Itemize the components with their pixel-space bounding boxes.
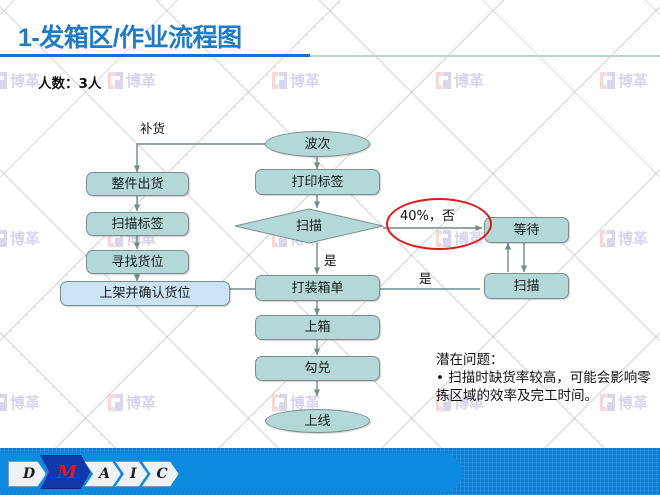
watermark: 博革 [0,392,40,413]
flow-node-online[interactable]: 上线 [265,409,370,433]
flow-node-wait[interactable]: 等待 [484,217,569,243]
watermark-text: 博革 [10,70,40,91]
boge-logo-icon [0,230,7,247]
boge-logo-icon [600,230,615,247]
watermark-text: 博革 [618,70,648,91]
edge-label-yes-down: 是 [324,250,337,269]
watermark: 博革 [436,70,484,91]
boge-logo-icon [272,72,287,89]
boge-logo-icon [108,394,123,411]
slide-canvas: 博革 博革 博革 博革 博革 博革 博革 博革 [0,0,660,495]
flow-node-label: 上线 [304,415,330,428]
boge-logo-icon [108,72,123,89]
dmaic-phase-letter: A [99,466,110,482]
watermark-text: 博革 [10,392,40,413]
dmaic-phase-letter: D [23,466,35,482]
notes-body: • 扫描时缺货率较高，可能会影响零拣区域的效率及完工时间。 [436,370,651,406]
flow-node-label: 勾兑 [304,362,330,375]
flow-node-label: 扫描 [296,220,322,233]
flow-node-full-case-shipment[interactable]: 整件出货 [86,172,189,196]
watermark: 博革 [600,70,648,91]
boge-logo-icon [0,394,7,411]
flow-node-label: 打印标签 [291,176,343,189]
watermark-text: 博革 [10,228,40,249]
flow-node-label: 扫描标签 [111,218,163,231]
flow-node-scan-decision[interactable]: 扫描 [234,208,384,244]
flow-node-label: 上架并确认货位 [99,287,190,300]
flow-node-print-label[interactable]: 打印标签 [255,169,380,195]
callout-text: 40%，否 [400,205,455,224]
watermark: 博革 [108,70,156,91]
watermark: 博革 [600,228,648,249]
page-title: 1-发箱区/作业流程图 [18,18,242,54]
flow-node-label: 寻找货位 [111,256,163,269]
flow-node-shelve-confirm-slot[interactable]: 上架并确认货位 [60,281,230,306]
boge-logo-icon [600,72,615,89]
notes-block: 潜在问题： • 扫描时缺货率较高，可能会影响零拣区域的效率及完工时间。 [436,352,651,405]
edge-label-replenish: 补货 [140,118,165,137]
flow-node-label: 打装箱单 [291,282,343,295]
dmaic-phase-d[interactable]: D [8,461,46,487]
dmaic-phase-letter: I [130,466,137,482]
flow-node-pack-list[interactable]: 打装箱单 [255,275,380,301]
dmaic-footer: D M A I C [0,448,660,495]
dmaic-phase-a[interactable]: A [84,461,121,487]
title-divider [0,54,660,57]
flow-node-label: 上箱 [304,321,330,334]
dmaic-phase-list: D M A I C [8,459,179,489]
dmaic-phase-m[interactable]: M [40,455,90,489]
flow-node-label: 整件出货 [111,178,163,191]
flow-node-tally[interactable]: 勾兑 [255,356,380,381]
flow-node-load-box[interactable]: 上箱 [255,315,380,340]
watermark-text: 博革 [126,70,156,91]
flow-node-scan-label[interactable]: 扫描标签 [86,212,189,236]
flow-node-find-slot[interactable]: 寻找货位 [86,250,189,274]
dmaic-phase-letter: C [157,466,168,482]
dmaic-phase-letter: M [57,462,77,483]
edge-label-yes-left: 是 [419,268,432,287]
watermark-text: 博革 [290,70,320,91]
flow-node-label: 扫描 [513,280,539,293]
watermark: 博革 [272,70,320,91]
watermark-text: 博革 [454,70,484,91]
boge-logo-icon [272,394,287,411]
watermark: 博革 [0,70,40,91]
boge-logo-icon [436,72,451,89]
watermark: 博革 [108,392,156,413]
flow-node-scan-again[interactable]: 扫描 [484,273,569,299]
watermark-text: 博革 [618,228,648,249]
headcount-label: 人数：3人 [38,72,101,92]
flow-node-wave[interactable]: 波次 [265,131,370,157]
flow-node-label: 等待 [513,224,539,237]
watermark: 博革 [0,228,40,249]
flow-node-label: 波次 [304,138,330,151]
notes-title: 潜在问题： [436,352,651,370]
watermark-text: 博革 [126,392,156,413]
boge-logo-icon [0,72,7,89]
